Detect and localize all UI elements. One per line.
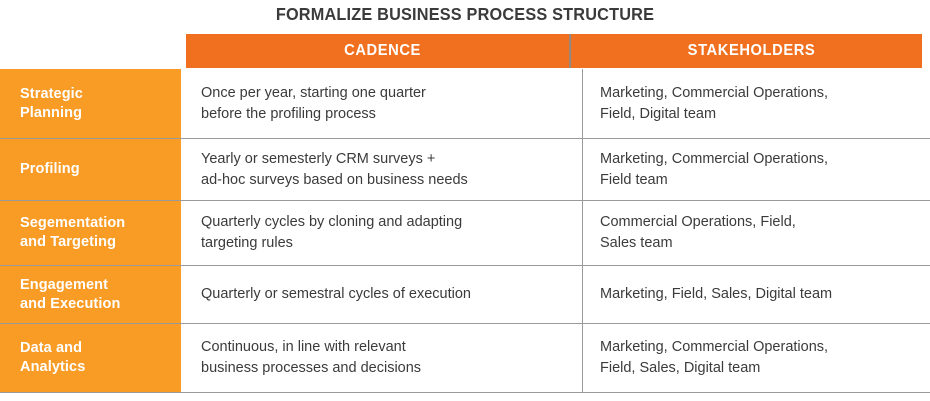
cadence-line-2: ad-hoc surveys based on business needs [201,170,570,191]
column-header-cadence: CADENCE [196,34,571,68]
stakeholders-line-1: Marketing, Commercial Operations, [600,149,920,170]
column-header-stakeholders: STAKEHOLDERS [590,34,914,68]
cadence-line-1: Once per year, starting one quarter [201,83,570,104]
table-row: Data and Analytics Continuous, in line w… [0,324,930,393]
cell-stakeholders: Commercial Operations, Field, Sales team [583,201,930,265]
cell-cadence: Yearly or semesterly CRM surveys + ad-ho… [188,139,583,200]
stakeholders-line-2: Field team [600,170,920,191]
row-label-engagement-and-execution: Engagement and Execution [0,266,181,323]
row-label-line-2: Analytics [20,358,181,377]
page-title: FORMALIZE BUSINESS PROCESS STRUCTURE [33,4,898,25]
table-row: Engagement and Execution Quarterly or se… [0,266,930,324]
stakeholders-line-2: Field, Digital team [600,104,920,125]
table-row: Segementation and Targeting Quarterly cy… [0,201,930,266]
row-label-line-1: Profiling [20,160,181,179]
table-row: Strategic Planning Once per year, starti… [0,69,930,139]
row-label-data-and-analytics: Data and Analytics [0,324,181,392]
row-gutter [181,69,188,138]
stakeholders-line-1: Marketing, Commercial Operations, [600,83,920,104]
row-gutter [181,201,188,265]
row-gutter [181,324,188,392]
cell-stakeholders: Marketing, Commercial Operations, Field,… [583,324,930,392]
cell-stakeholders: Marketing, Commercial Operations, Field … [583,139,930,200]
cadence-line-1: Quarterly cycles by cloning and adapting [201,212,570,233]
row-label-segementation-and-targeting: Segementation and Targeting [0,201,181,265]
table-body: Strategic Planning Once per year, starti… [0,69,930,393]
row-gutter [181,266,188,323]
table-header-row: CADENCE STAKEHOLDERS [186,34,922,68]
cadence-line-1: Quarterly or semestral cycles of executi… [201,284,570,305]
row-label-line-1: Engagement [20,276,181,295]
stakeholders-line-2: Sales team [600,233,920,254]
row-gutter [181,139,188,200]
cell-cadence: Once per year, starting one quarter befo… [188,69,583,138]
row-label-profiling: Profiling [0,139,181,200]
row-label-line-1: Data and [20,339,181,358]
row-label-line-1: Segementation [20,214,181,233]
cell-cadence: Quarterly cycles by cloning and adapting… [188,201,583,265]
cadence-line-2: before the profiling process [201,104,570,125]
cell-cadence: Continuous, in line with relevant busine… [188,324,583,392]
process-structure-table-figure: FORMALIZE BUSINESS PROCESS STRUCTURE CAD… [0,0,930,401]
row-label-line-2: Planning [20,104,181,123]
stakeholders-line-1: Marketing, Field, Sales, Digital team [600,284,920,305]
cell-cadence: Quarterly or semestral cycles of executi… [188,266,583,323]
stakeholders-line-2: Field, Sales, Digital team [600,358,920,379]
cadence-line-2: business processes and decisions [201,358,570,379]
cadence-line-1: Continuous, in line with relevant [201,337,570,358]
table-row: Profiling Yearly or semesterly CRM surve… [0,139,930,201]
cell-stakeholders: Marketing, Commercial Operations, Field,… [583,69,930,138]
row-label-line-2: and Execution [20,295,181,314]
row-label-line-1: Strategic [20,85,181,104]
row-label-line-2: and Targeting [20,233,181,252]
cell-stakeholders: Marketing, Field, Sales, Digital team [583,266,930,323]
row-label-strategic-planning: Strategic Planning [0,69,181,138]
stakeholders-line-1: Marketing, Commercial Operations, [600,337,920,358]
cadence-line-2: targeting rules [201,233,570,254]
cadence-line-1: Yearly or semesterly CRM surveys + [201,149,570,170]
stakeholders-line-1: Commercial Operations, Field, [600,212,920,233]
